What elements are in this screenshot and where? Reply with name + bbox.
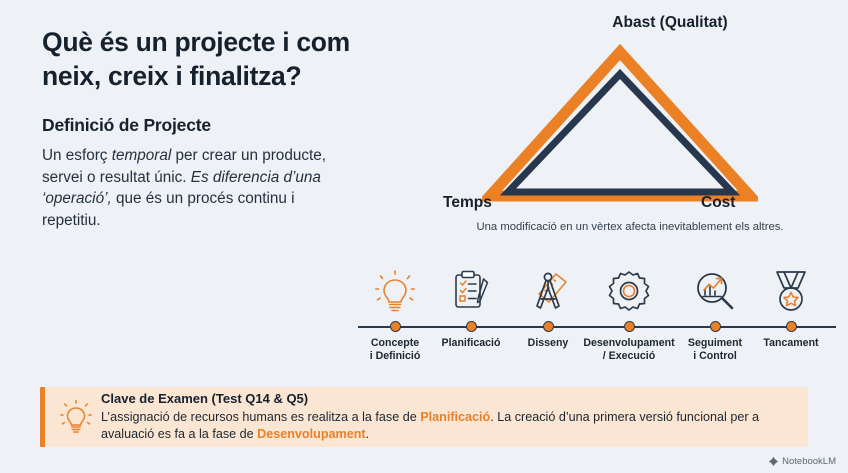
definition-text-1: Un esforç xyxy=(42,147,112,164)
gear-icon xyxy=(581,262,677,314)
watermark-label: NotebookLM xyxy=(782,456,836,467)
exam-key-callout: Clave de Examen (Test Q14 & Q5) L’assign… xyxy=(40,387,808,447)
callout-body: Clave de Examen (Test Q14 & Q5) L’assign… xyxy=(99,391,798,442)
timeline-dot xyxy=(786,321,797,332)
timeline-dot xyxy=(710,321,721,332)
definition-paragraph: Un esforç temporal per crear un producte… xyxy=(42,145,342,232)
callout-text-1: L’assignació de recursos humans es reali… xyxy=(101,410,420,424)
timeline-dot xyxy=(624,321,635,332)
section-heading: Definició de Projecte xyxy=(42,115,392,136)
left-content-column: Què és un projecte i com neix, creix i f… xyxy=(42,26,392,232)
triangle-left-label: Temps xyxy=(443,194,492,212)
medal-icon xyxy=(743,262,839,314)
notebooklm-watermark: NotebookLM xyxy=(768,456,836,467)
timeline-step-tancament[interactable]: Tancament xyxy=(743,262,839,350)
timeline-step-desenvolupament[interactable]: Desenvolupament / Execució xyxy=(581,262,677,363)
notebooklm-icon xyxy=(768,456,779,467)
triangle-caption: Una modificació en un vèrtex afecta inev… xyxy=(470,220,790,235)
triangle-apex-label: Abast (Qualitat) xyxy=(470,14,848,32)
timeline-label: Tancament xyxy=(743,337,839,350)
triangle-svg xyxy=(482,44,758,204)
lightbulb-idea-icon xyxy=(53,398,99,436)
triangle-right-label: Cost xyxy=(701,194,735,212)
callout-text: L’assignació de recursos humans es reali… xyxy=(101,409,798,442)
timeline-label: Desenvolupament / Execució xyxy=(581,337,677,363)
iron-triangle-diagram: Abast (Qualitat) Temps Cost Una modifica… xyxy=(430,14,830,254)
triangle-shape xyxy=(482,44,758,209)
callout-title: Clave de Examen (Test Q14 & Q5) xyxy=(101,391,798,407)
timeline-dot xyxy=(390,321,401,332)
definition-italic-1: temporal xyxy=(112,147,172,164)
timeline-dot xyxy=(543,321,554,332)
project-phases-timeline: Concepte i Definició xyxy=(358,262,836,370)
callout-highlight-planificacio: Planificació xyxy=(420,410,490,424)
page-title: Què és un projecte i com neix, creix i f… xyxy=(42,26,392,94)
timeline-dot xyxy=(466,321,477,332)
callout-highlight-desenvolupament: Desenvolupament xyxy=(257,427,365,441)
callout-text-3: . xyxy=(366,427,370,441)
